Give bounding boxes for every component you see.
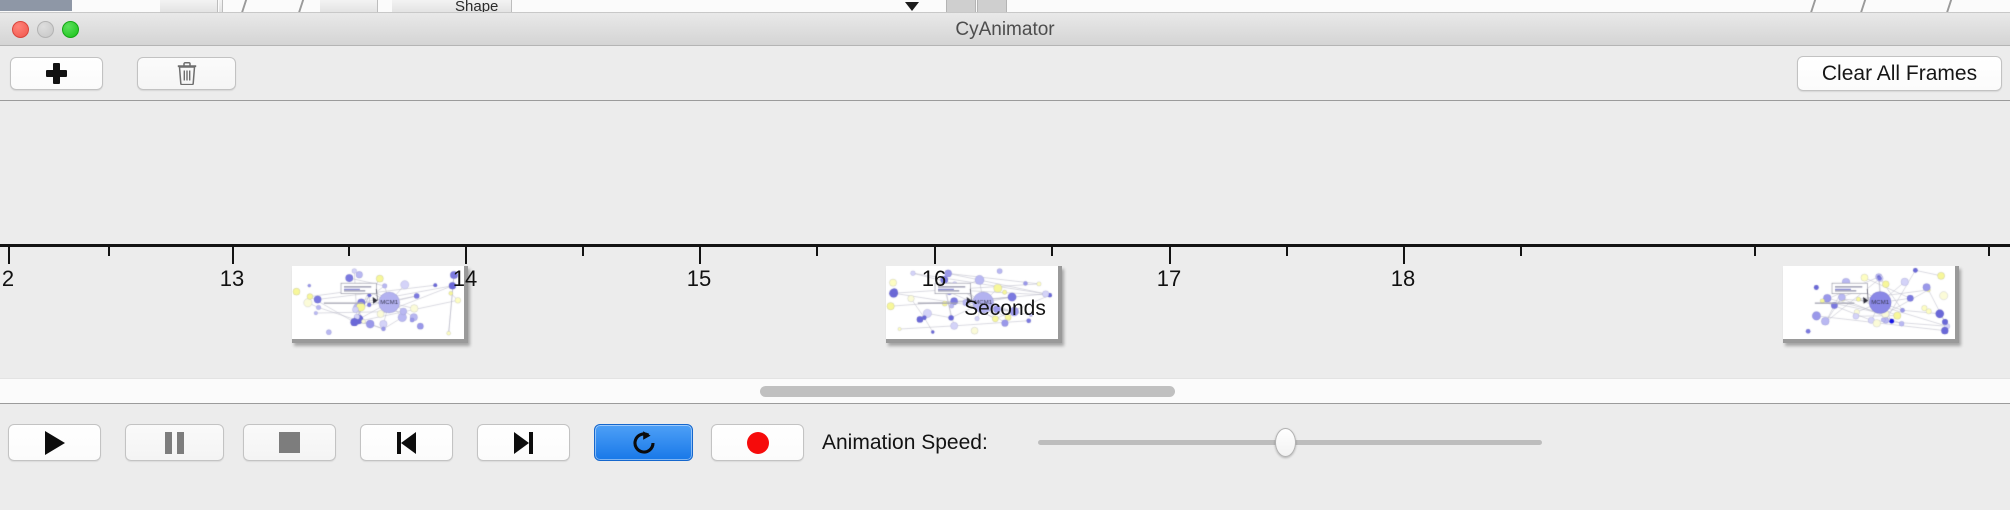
axis-tick-major [465, 247, 467, 264]
axis-tick-major [1403, 247, 1405, 264]
window-title: CyAnimator [0, 13, 2010, 46]
axis-tick-label: 17 [1157, 266, 1181, 292]
record-button[interactable] [711, 424, 804, 461]
axis-tick-minor [1286, 247, 1288, 256]
axis-tick-label: 14 [453, 266, 477, 292]
playback-toolbar: Animation Speed: [0, 403, 2010, 509]
background-window-tab [219, 0, 223, 13]
add-frame-button[interactable] [10, 57, 103, 90]
axis-tick-label: 13 [220, 266, 244, 292]
timeline-axis [0, 244, 2010, 247]
axis-tick-minor [582, 247, 584, 256]
skip-to-end-button[interactable] [477, 424, 570, 461]
axis-tick-minor [348, 247, 350, 256]
trash-icon [177, 62, 197, 85]
axis-tick-major [1169, 247, 1171, 264]
background-window-label: Shape [455, 0, 498, 13]
background-window-divider [1810, 0, 1816, 13]
pause-button[interactable] [125, 424, 224, 461]
skip-to-start-button[interactable] [360, 424, 453, 461]
axis-tick-minor [1520, 247, 1522, 256]
pause-icon [165, 432, 184, 454]
skip-forward-icon [514, 432, 533, 454]
background-window-control [946, 0, 976, 13]
background-window-divider [1946, 0, 1952, 13]
axis-tick-minor [1754, 247, 1756, 256]
loop-button[interactable] [594, 424, 693, 461]
animation-speed-label: Animation Speed: [822, 424, 988, 461]
background-window-tab [160, 0, 218, 13]
axis-tick-label: 2 [2, 266, 14, 292]
axis-tick-label: 16 [922, 266, 946, 292]
play-button[interactable] [8, 424, 101, 461]
window-titlebar: CyAnimator [0, 13, 2010, 46]
axis-tick-minor [1988, 247, 1990, 256]
animation-speed-slider[interactable] [1038, 424, 1542, 461]
axis-tick-major [699, 247, 701, 264]
stop-icon [279, 432, 300, 453]
axis-tick-major [934, 247, 936, 264]
record-icon [747, 432, 769, 454]
axis-tick-minor [108, 247, 110, 256]
axis-tick-minor [816, 247, 818, 256]
axis-tick-label: 18 [1391, 266, 1415, 292]
background-window-caret-icon [905, 2, 919, 11]
background-window-strip: Shape [0, 0, 2010, 13]
timeline-scrollbar-thumb[interactable] [760, 386, 1175, 397]
play-icon [45, 431, 65, 455]
skip-back-icon [397, 432, 416, 454]
axis-tick-minor [1051, 247, 1053, 256]
clear-all-frames-button[interactable]: Clear All Frames [1797, 56, 2002, 91]
background-window-divider [1860, 0, 1866, 13]
slider-thumb[interactable] [1275, 428, 1296, 457]
clear-all-frames-label: Clear All Frames [1822, 62, 1977, 86]
cyanimator-window: CyAnimator Clear All Frames [0, 13, 2010, 510]
background-window-divider [298, 0, 304, 13]
background-window-sidebar [0, 0, 72, 11]
delete-frame-button[interactable] [137, 57, 236, 90]
background-window-tab [320, 0, 378, 13]
background-window-divider [241, 0, 247, 13]
axis-tick-major [232, 247, 234, 264]
loop-icon [631, 430, 657, 456]
axis-tick-label: 15 [687, 266, 711, 292]
timeline-panel[interactable]: 2131415161718 Seconds [0, 101, 2010, 378]
axis-tick-major [8, 247, 10, 264]
frame-toolbar: Clear All Frames [0, 46, 2010, 101]
axis-title: Seconds [0, 297, 2010, 321]
stop-button[interactable] [243, 424, 336, 461]
timeline-scrollbar[interactable] [0, 378, 2010, 403]
background-window-control [977, 0, 1007, 13]
plus-icon [46, 63, 67, 84]
